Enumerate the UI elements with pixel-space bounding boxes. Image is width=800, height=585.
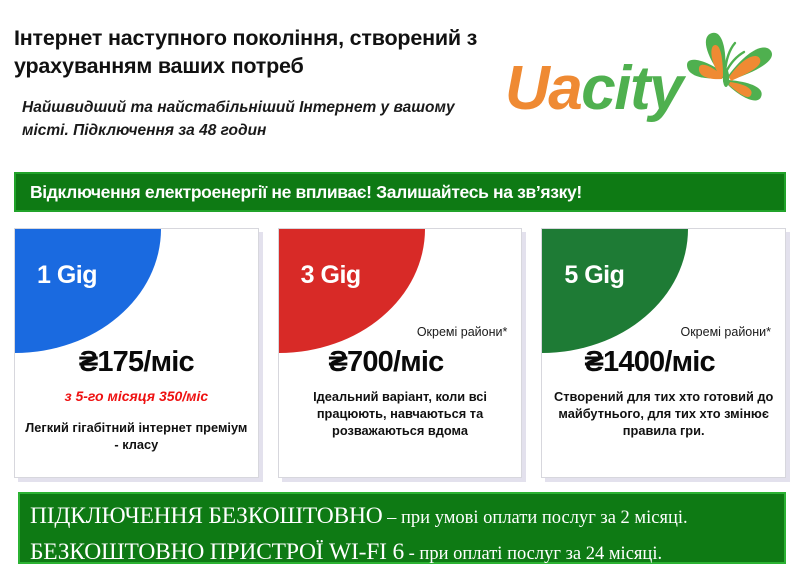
tier-badge-shape	[279, 229, 425, 353]
page-title: Інтернет наступного покоління, створений…	[14, 24, 494, 81]
promo-terms-line-1-rest: – при умові оплати послуг за 2 місяці.	[383, 508, 688, 528]
header: Інтернет наступного покоління, створений…	[0, 0, 800, 168]
logo-text-ua: Ua	[505, 54, 581, 123]
tier-label: 1 Gig	[37, 261, 97, 290]
promo-terms-line-2: БЕЗКОШТОВНО ПРИСТРОЇ WI-FI 6 - при оплат…	[30, 535, 784, 571]
pricing-card-1gig[interactable]: 1 Gig ₴175/міс з 5-го місяця 350/міс Лег…	[14, 228, 259, 478]
tier-badge-shape	[542, 229, 688, 353]
plan-description: Легкий гігабітний інтернет преміум - кла…	[25, 420, 248, 454]
coverage-note: Окремі райони*	[417, 325, 508, 339]
promo-terms-line-1: ПІДКЛЮЧЕННЯ БЕЗКОШТОВНО – при умові опла…	[30, 499, 784, 535]
pricing-card-5gig[interactable]: 5 Gig Окремі райони* ₴1400/міс Створений…	[541, 228, 786, 478]
promo-terms-line-2-strong: БЕЗКОШТОВНО ПРИСТРОЇ WI-FI 6	[30, 539, 404, 565]
tier-badge-shape	[15, 229, 161, 353]
price-label: ₴700/міс	[279, 346, 522, 379]
power-outage-banner: Відключення електроенергії не впливає! З…	[14, 172, 786, 212]
promo-terms-line-2-rest: - при оплаті послуг за 24 місяці.	[404, 544, 662, 564]
tier-label: 5 Gig	[564, 261, 624, 290]
tier-label: 3 Gig	[301, 261, 361, 290]
pricing-cards: 1 Gig ₴175/міс з 5-го місяця 350/міс Лег…	[14, 228, 786, 478]
page-subtitle: Найшвидший та найстабільніший Інтернет у…	[22, 96, 492, 143]
plan-description: Створений для тих хто готовий до майбутн…	[552, 389, 775, 440]
price-label: ₴1400/міс	[542, 346, 785, 379]
butterfly-icon	[665, 30, 785, 122]
plan-description: Ідеальний варіант, коли всі працюють, на…	[289, 389, 512, 440]
promo-terms-line-1-strong: ПІДКЛЮЧЕННЯ БЕЗКОШТОВНО	[30, 503, 383, 529]
pricing-card-3gig[interactable]: 3 Gig Окремі райони* ₴700/міс Ідеальний …	[278, 228, 523, 478]
price-label: ₴175/міс	[15, 346, 258, 379]
power-outage-banner-text: Відключення електроенергії не впливає! З…	[16, 182, 582, 203]
promo-label: з 5-го місяця 350/міс	[15, 388, 258, 404]
promo-terms-banner: ПІДКЛЮЧЕННЯ БЕЗКОШТОВНО – при умові опла…	[18, 492, 786, 564]
brand-logo[interactable]: Uacity	[505, 30, 790, 135]
logo-wordmark: Uacity	[505, 58, 682, 120]
coverage-note: Окремі райони*	[680, 325, 771, 339]
